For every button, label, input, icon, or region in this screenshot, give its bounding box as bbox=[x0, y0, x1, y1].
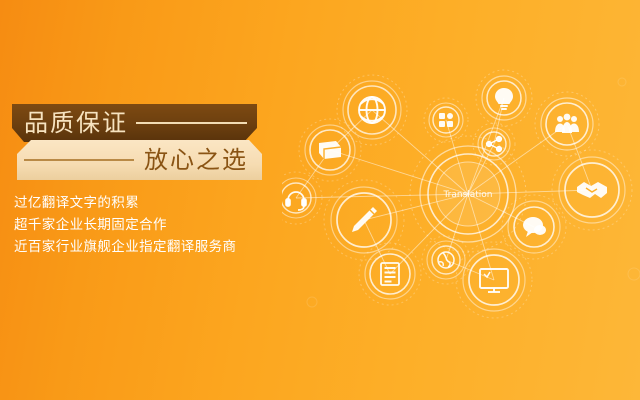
globe-icon bbox=[359, 97, 385, 123]
network-connectors bbox=[296, 98, 592, 280]
handshake-icon bbox=[577, 182, 607, 198]
pencil-icon bbox=[352, 207, 377, 232]
ribbon-top-rule bbox=[136, 122, 247, 124]
feature-line: 近百家行业旗舰企业指定翻译服务商 bbox=[14, 236, 274, 258]
node-apps bbox=[424, 98, 468, 142]
ribbon-bottom: 放心之选 bbox=[17, 140, 262, 180]
apps-icon bbox=[439, 113, 453, 127]
node-handshake bbox=[552, 150, 632, 230]
network-globe-icon bbox=[438, 252, 454, 268]
node-globe bbox=[337, 75, 407, 145]
monitor-icon bbox=[480, 269, 508, 292]
feature-list: 过亿翻译文字的积累 超千家企业长期固定合作 近百家行业旗舰企业指定翻译服务商 bbox=[14, 192, 274, 258]
feature-line: 过亿翻译文字的积累 bbox=[14, 192, 274, 214]
node-chat bbox=[502, 195, 566, 259]
node-people bbox=[535, 92, 599, 156]
decorative-rings bbox=[307, 78, 640, 307]
node-network-globe bbox=[422, 236, 470, 284]
headset-icon bbox=[286, 192, 306, 210]
node-share bbox=[473, 123, 515, 165]
document-icon bbox=[381, 263, 399, 285]
ribbon-top: 品质保证 bbox=[12, 104, 257, 142]
share-icon bbox=[487, 137, 502, 152]
promo-banner-root: Translation bbox=[0, 0, 640, 400]
node-book bbox=[299, 119, 361, 181]
node-monitor bbox=[456, 242, 532, 318]
hub-label: Translation bbox=[442, 190, 492, 200]
node-headset bbox=[282, 172, 322, 224]
chat-bubble-icon bbox=[523, 217, 546, 237]
banner-bottom-title: 放心之选 bbox=[144, 148, 248, 172]
node-document bbox=[359, 243, 421, 305]
banner-top-title: 品质保证 bbox=[24, 111, 128, 135]
network-hub: Translation bbox=[410, 136, 526, 252]
network-diagram: Translation bbox=[282, 62, 640, 334]
ribbon-banner: 品质保证 放心之选 bbox=[12, 104, 262, 180]
book-icon bbox=[319, 141, 341, 159]
node-lightbulb bbox=[476, 70, 532, 126]
ribbon-bottom-rule bbox=[24, 159, 134, 161]
node-pencil bbox=[324, 180, 404, 260]
lightbulb-icon bbox=[495, 88, 513, 110]
people-icon bbox=[555, 114, 579, 133]
feature-line: 超千家企业长期固定合作 bbox=[14, 214, 274, 236]
